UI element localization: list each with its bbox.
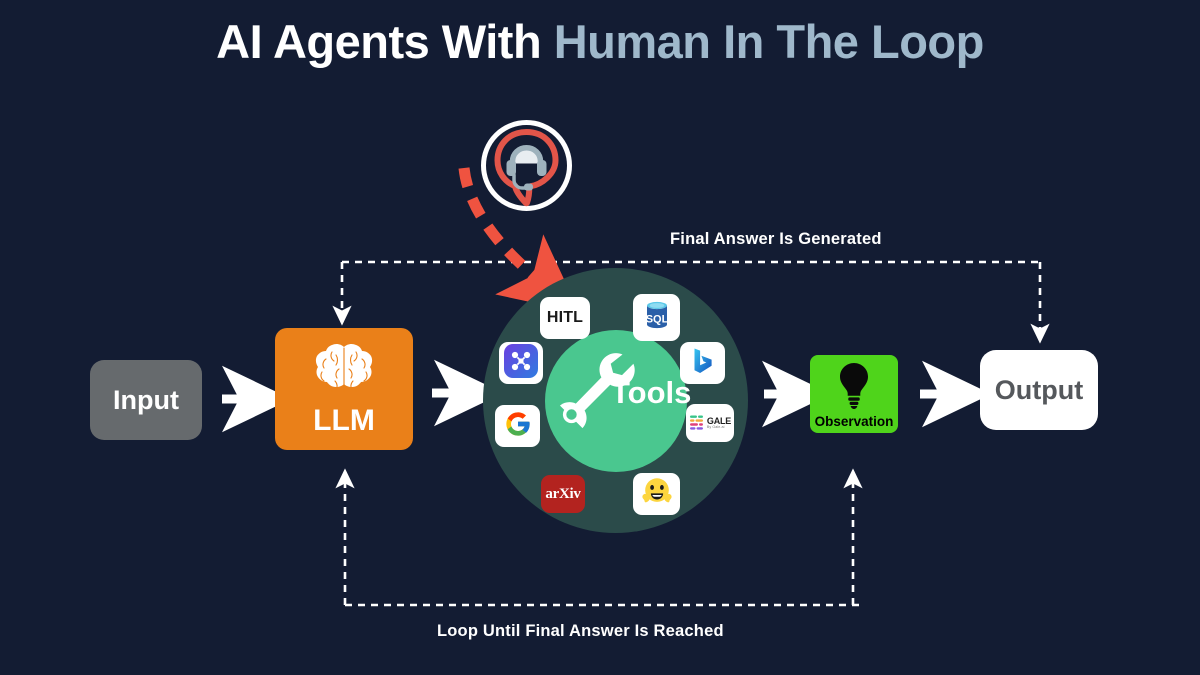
bing-icon (686, 344, 720, 383)
sql-database-icon: SQL (638, 296, 676, 339)
langgraph-icon (504, 344, 538, 383)
brain-icon (308, 343, 380, 404)
headset-support-agent-icon (481, 120, 572, 215)
hugging-face-icon (640, 475, 674, 514)
node-output-label: Output (995, 375, 1083, 406)
node-input[interactable]: Input (90, 360, 202, 440)
arxiv-icon: arXiv (545, 486, 580, 503)
label-loop: Loop Until Final Answer Is Reached (437, 622, 724, 641)
google-icon (504, 410, 532, 443)
gale-sublabel: By Gale.ai (707, 426, 731, 430)
tool-chip-google[interactable] (495, 405, 540, 447)
node-tools-label: Tools (611, 377, 691, 408)
node-observation[interactable]: Observation (810, 355, 898, 433)
human-in-the-loop-avatar[interactable] (481, 120, 572, 215)
svg-text:SQL: SQL (645, 314, 668, 326)
tool-chip-gale[interactable]: GALE By Gale.ai (686, 404, 734, 442)
node-input-label: Input (113, 385, 179, 416)
node-llm-label: LLM (313, 406, 375, 436)
hitl-icon: HITL (547, 309, 583, 327)
tool-chip-arxiv[interactable]: arXiv (541, 475, 585, 513)
node-tools[interactable]: Tools (545, 330, 687, 472)
label-final-answer: Final Answer Is Generated (670, 230, 882, 249)
node-observation-label: Observation (815, 415, 894, 429)
tool-chip-langgraph[interactable] (499, 342, 543, 384)
diagram-canvas: AI Agents With Human In The Loop (0, 0, 1200, 675)
tool-chip-sql[interactable]: SQL (633, 294, 680, 341)
tool-chip-hitl[interactable]: HITL (540, 297, 590, 339)
node-llm[interactable]: LLM (275, 328, 413, 450)
tool-chip-hugging-face[interactable] (633, 473, 680, 515)
node-output[interactable]: Output (980, 350, 1098, 430)
lightbulb-icon (837, 362, 871, 415)
tool-chip-bing[interactable] (680, 342, 725, 384)
gale-icon: GALE By Gale.ai (689, 414, 731, 432)
